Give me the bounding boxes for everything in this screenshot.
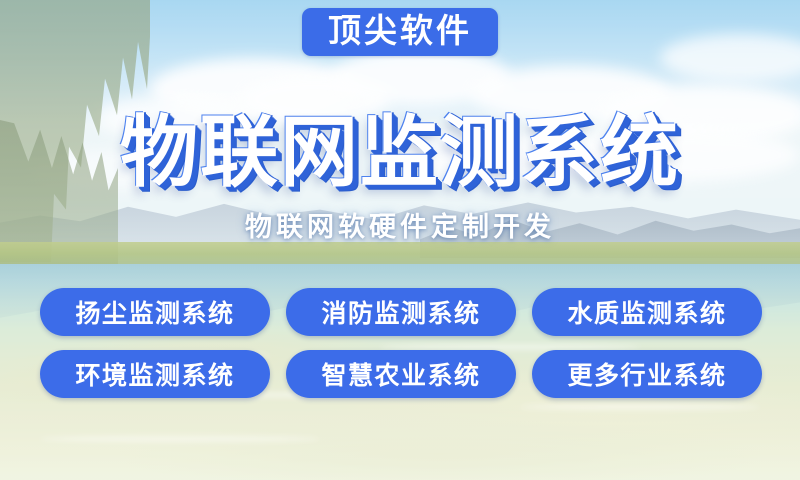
- service-pill-agriculture[interactable]: 智慧农业系统: [286, 350, 516, 398]
- brand-badge: 顶尖软件: [302, 8, 498, 56]
- page-subtitle: 物联网软硬件定制开发: [0, 205, 800, 244]
- promo-banner: 顶尖软件 物联网监测系统 物联网软硬件定制开发 扬尘监测系统 消防监测系统 水质…: [0, 0, 800, 480]
- service-pill-environment[interactable]: 环境监测系统: [40, 350, 270, 398]
- banner-content: 顶尖软件 物联网监测系统 物联网软硬件定制开发 扬尘监测系统 消防监测系统 水质…: [0, 0, 800, 480]
- service-pill-grid: 扬尘监测系统 消防监测系统 水质监测系统 环境监测系统 智慧农业系统 更多行业系…: [40, 288, 762, 398]
- service-pill-dust[interactable]: 扬尘监测系统: [40, 288, 270, 336]
- service-pill-more[interactable]: 更多行业系统: [532, 350, 762, 398]
- service-pill-fire[interactable]: 消防监测系统: [286, 288, 516, 336]
- page-title: 物联网监测系统: [0, 90, 800, 202]
- service-pill-water[interactable]: 水质监测系统: [532, 288, 762, 336]
